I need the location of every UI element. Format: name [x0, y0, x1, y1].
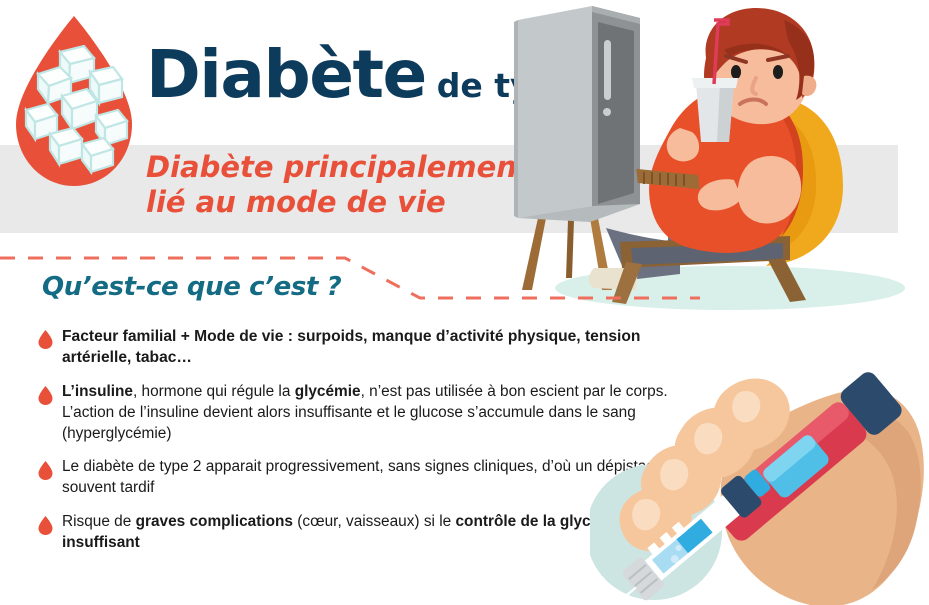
infographic-page: Diabète de type 2 Diabète principalement… [0, 0, 929, 605]
section-heading: Qu’est-ce que c’est ? [42, 272, 341, 302]
title-main-text: Diabète [146, 42, 426, 108]
list-item: Risque de graves complications (cœur, va… [38, 512, 678, 554]
list-item: Facteur familial + Mode de vie : surpoid… [38, 326, 678, 368]
hand-holding-insulin-pen-and-syringe-icon [590, 360, 929, 605]
list-item-text: Le diabète de type 2 apparait progressiv… [62, 458, 663, 496]
blood-drop-bullet-icon [38, 386, 53, 405]
blood-drop-bullet-icon [38, 330, 53, 349]
list-item-text: Facteur familial + Mode de vie : surpoid… [62, 328, 640, 366]
list-item: L’insuline, hormone qui régule la glycém… [38, 382, 678, 444]
list-item-text: Risque de graves complications (cœur, va… [62, 513, 626, 551]
bullet-list: Facteur familial + Mode de vie : surpoid… [38, 326, 678, 565]
list-item: Le diabète de type 2 apparait progressiv… [38, 457, 678, 499]
blood-drop-bullet-icon [38, 461, 53, 480]
blood-drop-bullet-icon [38, 516, 53, 535]
blood-drop-with-sugar-cubes-icon [8, 12, 140, 192]
list-item-text: L’insuline, hormone qui régule la glycém… [62, 383, 668, 442]
